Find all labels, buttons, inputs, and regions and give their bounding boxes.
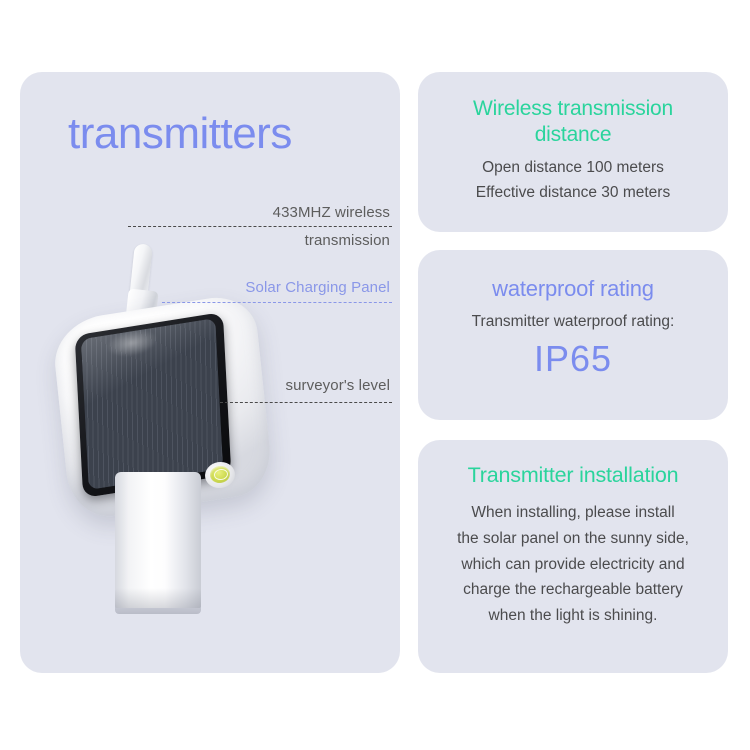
- installation-line-4: charge the rechargeable battery: [432, 577, 714, 603]
- wireless-effective-distance: Effective distance 30 meters: [430, 180, 716, 205]
- card-wireless-heading: Wireless transmission distance: [436, 96, 710, 147]
- waterproof-rating-value: IP65: [418, 338, 728, 380]
- card-waterproof-rating: waterproof rating Transmitter waterproof…: [418, 250, 728, 420]
- card-wireless-body: Open distance 100 meters Effective dista…: [430, 155, 716, 205]
- neck-shadow: [115, 588, 201, 614]
- leader-line-wireless: [128, 226, 392, 227]
- card-wireless-distance: Wireless transmission distance Open dist…: [418, 72, 728, 232]
- product-infographic: { "colors": { "page_background": "#fffff…: [0, 0, 750, 750]
- card-transmitter-installation: Transmitter installation When installing…: [418, 440, 728, 673]
- card-installation-heading: Transmitter installation: [430, 462, 716, 488]
- installation-line-3: which can provide electricity and: [432, 552, 714, 578]
- annotation-surveyors-level: surveyor's level: [215, 377, 390, 394]
- annotation-solar-panel: Solar Charging Panel: [165, 279, 390, 296]
- page-title: transmitters: [68, 112, 292, 156]
- leader-line-solar-panel: [162, 302, 392, 303]
- card-waterproof-body: Transmitter waterproof rating:: [428, 309, 718, 334]
- leader-line-surveyors-level: [220, 402, 392, 403]
- annotation-wireless-line2: transmission: [200, 232, 390, 249]
- installation-line-2: the solar panel on the sunny side,: [432, 526, 714, 552]
- installation-line-5: when the light is shining.: [432, 603, 714, 629]
- card-installation-body: When installing, please install the sola…: [432, 500, 714, 629]
- card-waterproof-heading: waterproof rating: [436, 276, 710, 303]
- wireless-open-distance: Open distance 100 meters: [430, 155, 716, 180]
- installation-line-1: When installing, please install: [432, 500, 714, 526]
- annotation-wireless-line1: 433MHZ wireless: [200, 204, 390, 221]
- product-panel: transmitters 433MHZ wireless transmissio…: [20, 72, 400, 673]
